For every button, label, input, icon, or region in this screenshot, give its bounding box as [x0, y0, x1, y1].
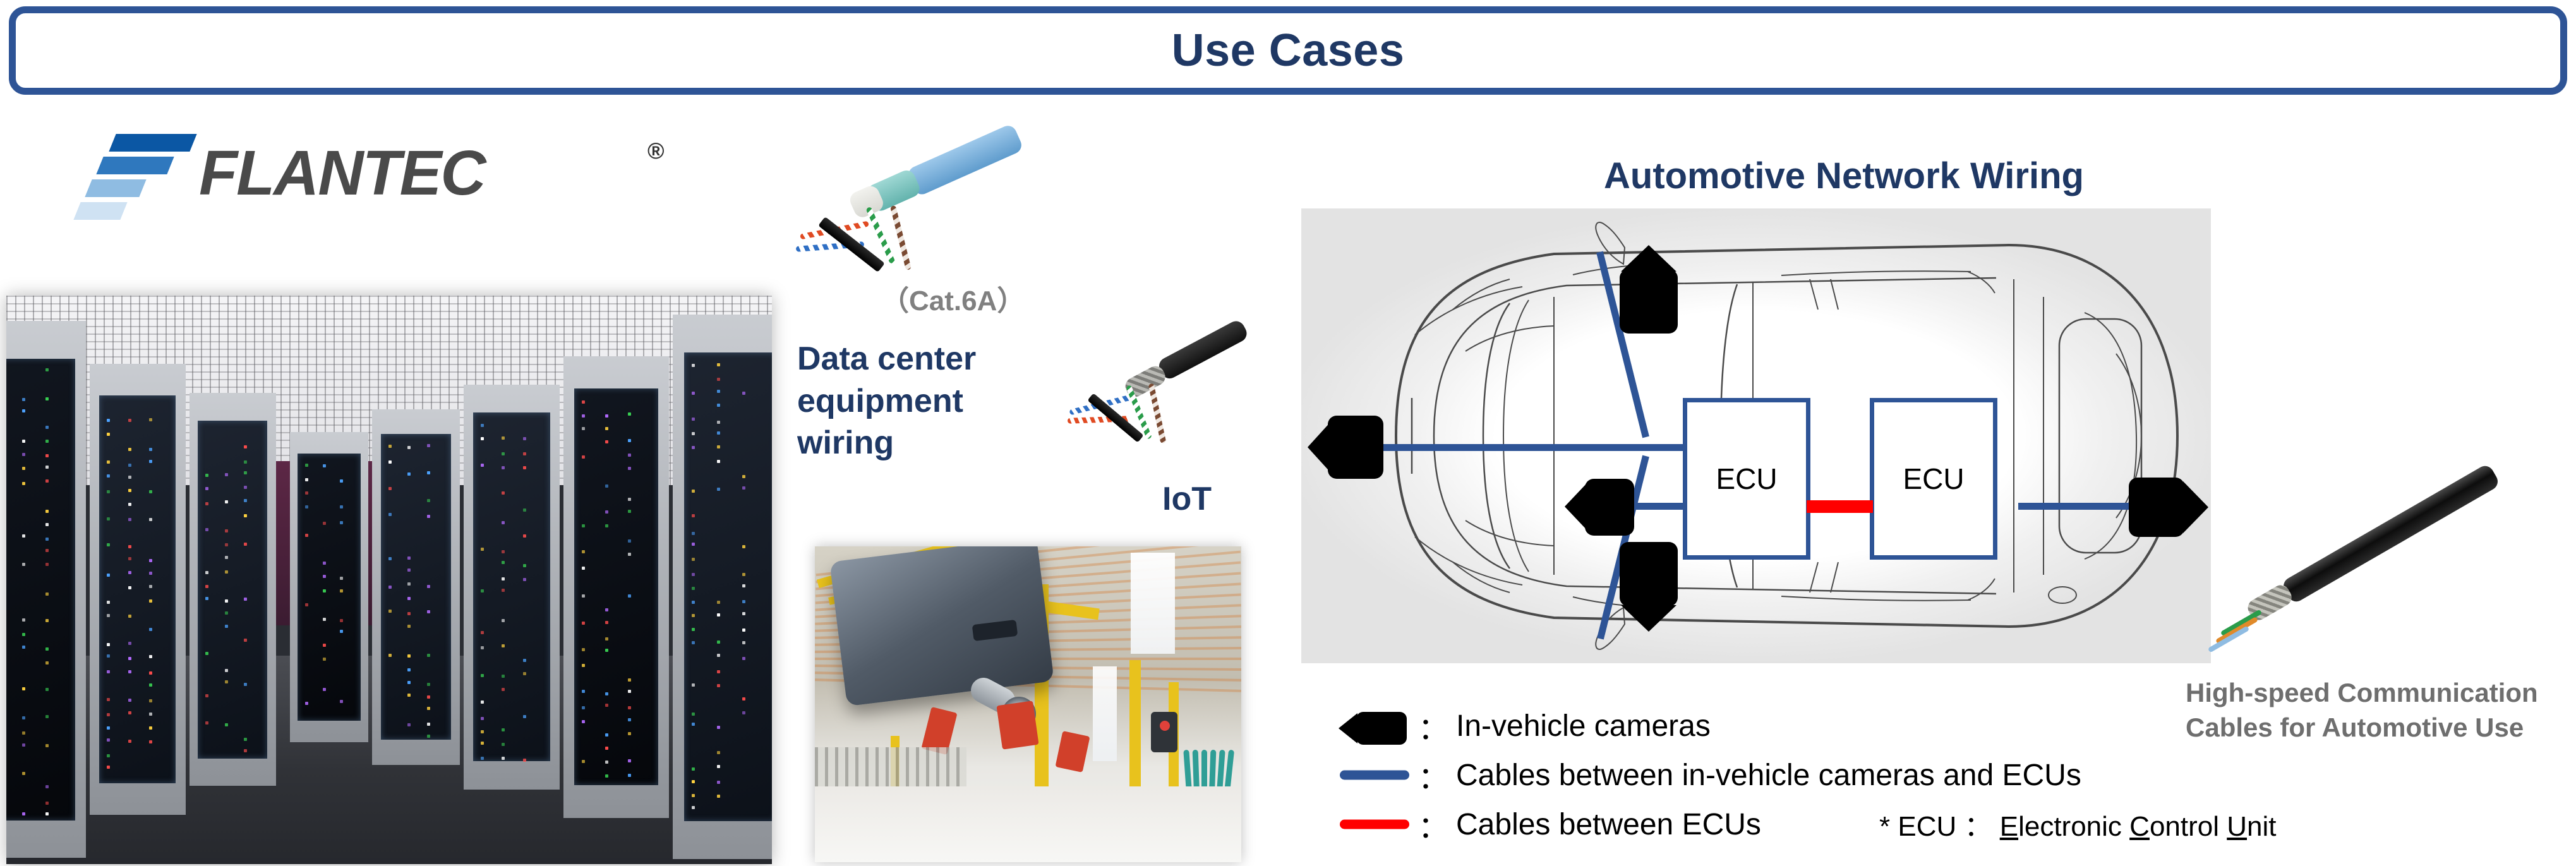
legend-colon-cameras: ：	[1418, 704, 1448, 748]
server-rack	[563, 356, 669, 818]
camera-icon-roof-front	[1611, 245, 1687, 334]
high-speed-cable-label: High-speed Communication Cables for Auto…	[2186, 676, 2576, 745]
registered-trademark-icon: ®	[647, 138, 665, 164]
server-rack	[290, 432, 368, 742]
page-title: Use Cases	[1172, 25, 1405, 76]
legend-row-cameras: ： In-vehicle cameras	[1336, 701, 2157, 750]
data-center-label-line3: wiring	[797, 422, 1062, 464]
automotive-section-title: Automotive Network Wiring	[1604, 155, 2084, 197]
ecu-footnote-nit: nit	[2247, 811, 2276, 842]
estop-button	[1160, 721, 1170, 731]
blue-line-icon-legend	[1336, 756, 1418, 794]
data-center-label-line2: equipment	[797, 380, 1062, 423]
cat6a-label: （Cat.6A）	[881, 278, 1025, 318]
ecu-footnote-prefix: * ECU ：	[1879, 811, 1992, 842]
car-network-diagram: ECU ECU	[1301, 208, 2211, 663]
legend-label-cameras: In-vehicle cameras	[1456, 709, 1711, 743]
high-speed-cable-label-line1: High-speed Communication	[2186, 676, 2576, 711]
server-rack	[372, 409, 459, 765]
high-speed-cable-photo	[2192, 455, 2527, 651]
legend-label-ecu-cables: Cables between ECUs	[1456, 807, 1761, 842]
legend-colon-ecu-cables: ：	[1418, 802, 1448, 846]
server-rack	[464, 385, 560, 790]
camera-icon-legend	[1336, 707, 1418, 745]
ecu-box-left-label: ECU	[1716, 462, 1777, 496]
cable-rear-camera	[2018, 503, 2138, 510]
legend-row-camera-cables: ： Cables between in-vehicle cameras and …	[1336, 750, 2157, 800]
server-rack	[90, 364, 186, 815]
server-rack	[190, 393, 276, 786]
ecu-footnote-c: C	[2129, 811, 2150, 842]
server-rack	[673, 315, 772, 859]
flantec-wordmark: FLANTEC	[199, 141, 485, 205]
data-center-label-line1: Data center	[797, 338, 1062, 380]
ecu-box-right-label: ECU	[1903, 462, 1964, 496]
ecu-footnote-e: E	[2000, 811, 2018, 842]
car-body	[829, 546, 1054, 706]
camera-icon-roof-rear	[1611, 542, 1687, 630]
iot-cable-photo	[1066, 366, 1249, 486]
carrier	[996, 701, 1038, 749]
high-speed-cable-label-line2: Cables for Automotive Use	[2186, 711, 2576, 745]
legend-colon-camera-cables: ：	[1418, 753, 1448, 797]
iot-label: IoT	[1162, 480, 1212, 518]
window	[1131, 553, 1175, 654]
legend-label-camera-cables: Cables between in-vehicle cameras and EC…	[1456, 758, 2081, 793]
ecu-box-left: ECU	[1683, 398, 1810, 560]
ecu-footnote-lectronic: lectronic	[2018, 811, 2129, 842]
ecu-footnote-u: U	[2227, 811, 2247, 842]
factory-floor	[815, 786, 1241, 862]
header-banner: Use Cases	[9, 6, 2567, 95]
control-box	[1151, 712, 1177, 752]
server-rack	[6, 321, 86, 858]
red-line-icon-legend	[1336, 805, 1418, 843]
data-center-photo	[6, 296, 772, 864]
flantec-logo: FLANTEC ®	[76, 133, 644, 221]
ecu-box-right: ECU	[1870, 398, 1997, 560]
flantec-logo-mark-icon	[76, 133, 196, 221]
data-center-label: Data center equipment wiring	[797, 338, 1062, 464]
ecu-footnote-ontrol: ontrol	[2150, 811, 2227, 842]
camera-icon-center	[1563, 474, 1633, 540]
cable-between-ecus	[1807, 500, 1873, 513]
window	[1093, 666, 1117, 761]
automotive-factory-photo	[815, 546, 1241, 862]
cable-front-camera	[1357, 444, 1685, 451]
cat6a-cable-photo	[795, 169, 1022, 296]
camera-icon-front	[1308, 409, 1383, 485]
ecu-footnote: * ECU ： Electronic Control Unit	[1879, 803, 2277, 844]
